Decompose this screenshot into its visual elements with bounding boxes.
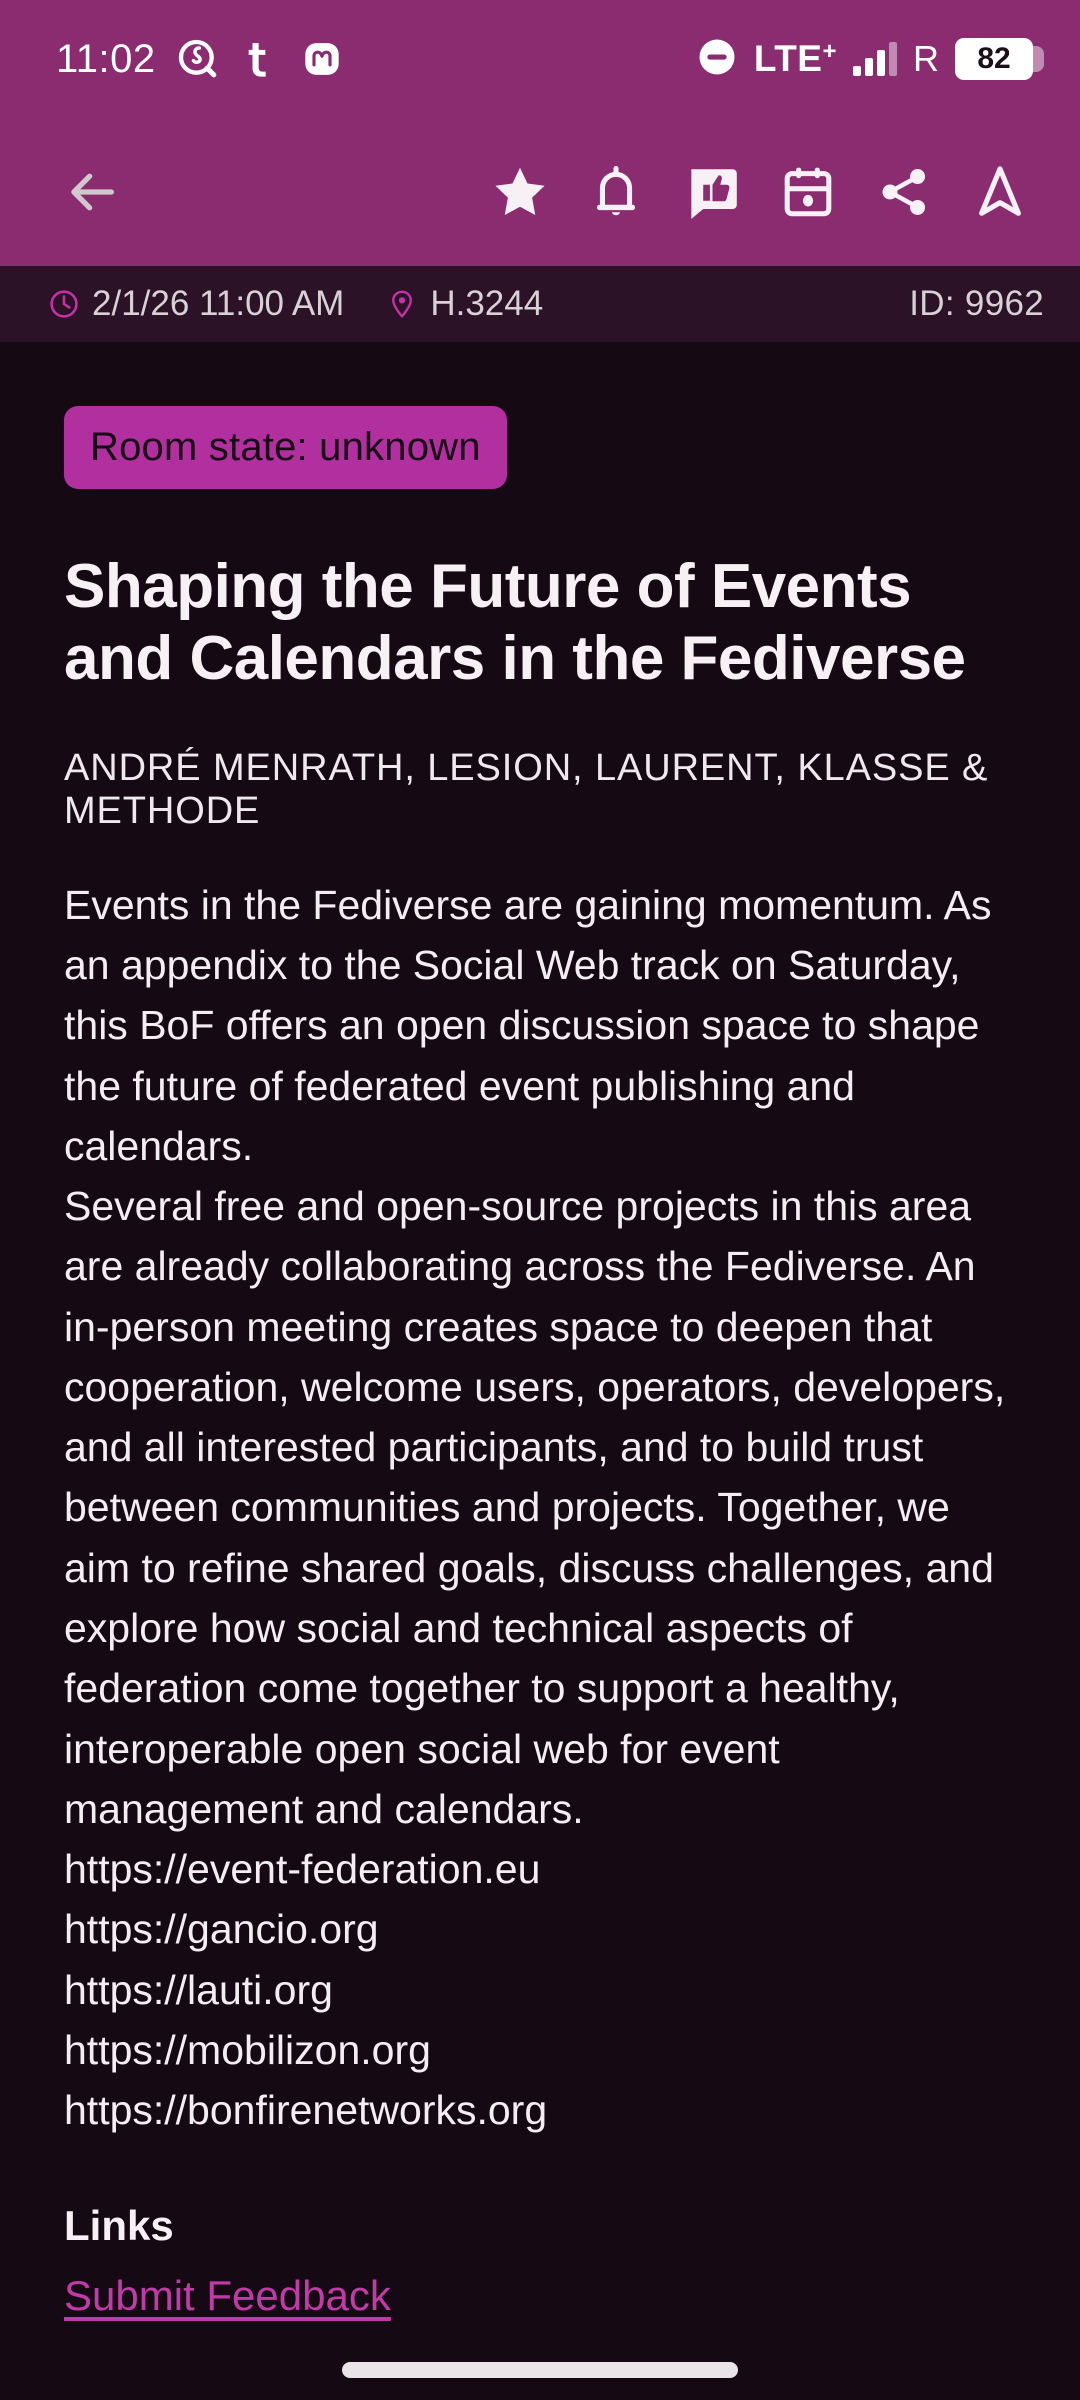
session-url[interactable]: https://mobilizon.org xyxy=(64,2020,1016,2080)
signal-bars-icon xyxy=(853,42,897,76)
calendar-icon xyxy=(779,163,837,221)
event-datetime-label: 2/1/26 11:00 AM xyxy=(92,284,344,324)
session-authors: ANDRÉ MENRATH, LESION, LAURENT, KLASSE &… xyxy=(64,747,1016,833)
navigate-button[interactable] xyxy=(952,144,1048,240)
event-detail-content: Room state: unknown Shaping the Future o… xyxy=(0,342,1080,2320)
abstract-paragraph: Several free and open-source projects in… xyxy=(64,1176,1016,1839)
add-to-calendar-button[interactable] xyxy=(760,144,856,240)
status-bar-right: LTE+ R 82 xyxy=(696,36,1044,83)
app-toolbar xyxy=(0,118,1080,266)
links-section-heading: Links xyxy=(64,2202,1016,2250)
status-bar: 11:02 xyxy=(0,0,1080,118)
feedback-bubble-icon xyxy=(681,161,743,223)
session-url-list: https://event-federation.eu https://ganc… xyxy=(64,1839,1016,2140)
favorite-button[interactable] xyxy=(472,144,568,240)
battery-level: 82 xyxy=(977,42,1010,76)
roaming-indicator: R xyxy=(913,38,939,80)
location-pin-icon xyxy=(386,288,418,320)
share-icon xyxy=(875,163,933,221)
event-room: H.3244 xyxy=(386,284,543,324)
signal-app-icon xyxy=(178,39,218,79)
event-room-label: H.3244 xyxy=(430,284,543,324)
session-abstract: Events in the Fediverse are gaining mome… xyxy=(64,875,1016,1839)
room-state-badge[interactable]: Room state: unknown xyxy=(64,406,507,489)
session-url[interactable]: https://event-federation.eu xyxy=(64,1839,1016,1899)
status-clock: 11:02 xyxy=(56,37,156,82)
notification-button[interactable] xyxy=(568,144,664,240)
app-screen: 11:02 xyxy=(0,0,1080,2400)
back-arrow-icon xyxy=(63,163,121,221)
bell-icon xyxy=(587,163,645,221)
session-url[interactable]: https://lauti.org xyxy=(64,1960,1016,2020)
page-title: Shaping the Future of Events and Calenda… xyxy=(64,551,1016,695)
home-gesture-pill[interactable] xyxy=(342,2362,738,2378)
back-button[interactable] xyxy=(44,144,140,240)
feedback-button[interactable] xyxy=(664,144,760,240)
event-id-label: ID: 9962 xyxy=(909,284,1044,324)
star-icon xyxy=(489,161,551,223)
clock-icon xyxy=(48,288,80,320)
tusky-app-icon xyxy=(240,39,280,79)
do-not-disturb-icon xyxy=(696,36,738,83)
session-url[interactable]: https://gancio.org xyxy=(64,1899,1016,1959)
event-meta-bar: 2/1/26 11:00 AM H.3244 ID: 9962 xyxy=(0,266,1080,342)
mastodon-app-icon xyxy=(302,39,342,79)
navigation-arrow-icon xyxy=(971,163,1029,221)
share-button[interactable] xyxy=(856,144,952,240)
event-datetime: 2/1/26 11:00 AM xyxy=(48,284,344,324)
battery-icon: 82 xyxy=(955,38,1044,80)
submit-feedback-link[interactable]: Submit Feedback xyxy=(64,2272,391,2320)
abstract-paragraph: Events in the Fediverse are gaining mome… xyxy=(64,875,1016,1176)
session-url[interactable]: https://bonfirenetworks.org xyxy=(64,2080,1016,2140)
status-bar-left: 11:02 xyxy=(56,37,342,82)
network-type-label: LTE+ xyxy=(754,38,837,80)
